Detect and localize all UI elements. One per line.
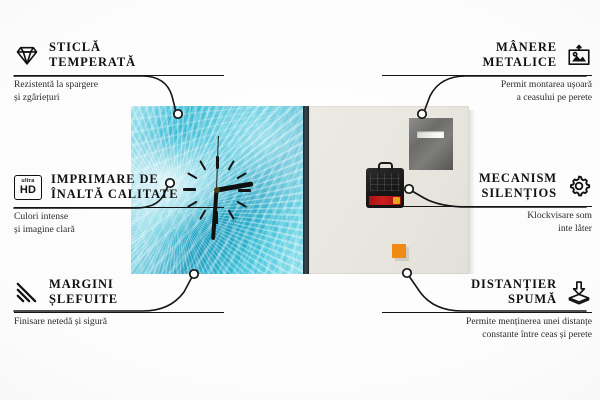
feature-title: MARGINI ȘLEFUITE (49, 277, 118, 308)
feature-tempered-glass: STICLĂ TEMPERATĂ Rezistentă la spargere … (14, 40, 224, 105)
feature-subtitle: Permit montarea ușoară a ceasului pe per… (382, 79, 592, 105)
feature-silent-mechanism: MECANISM SILENȚIOS Klockvisare som inte … (382, 171, 592, 236)
feature-title: MECANISM SILENȚIOS (479, 171, 557, 202)
beveled-edge-icon (14, 279, 40, 305)
feature-foam-spacer: DISTANȚIER SPUMĂ Permite menținerea unei… (382, 277, 592, 342)
mechanism-hook (378, 162, 393, 171)
feature-rule (382, 312, 592, 314)
picture-frame-hanger-icon (566, 42, 592, 68)
feature-title: MÂNERE METALICE (483, 40, 557, 71)
feature-rule (14, 75, 224, 77)
feature-subtitle: Klockvisare som inte låter (382, 210, 592, 236)
gear-icon (566, 173, 592, 199)
feature-rule (382, 206, 592, 208)
feature-title: IMPRIMARE DE ÎNALTĂ CALITATE (51, 172, 179, 203)
infographic-canvas: STICLĂ TEMPERATĂ Rezistentă la spargere … (0, 0, 600, 400)
feature-hd-print: ultra HD IMPRIMARE DE ÎNALTĂ CALITATE Cu… (14, 172, 224, 237)
feature-rule (14, 312, 224, 314)
feature-rule (382, 75, 592, 77)
feature-title: DISTANȚIER SPUMĂ (471, 277, 557, 308)
press-down-pad-icon (566, 279, 592, 305)
feature-title: STICLĂ TEMPERATĂ (49, 40, 136, 71)
feature-subtitle: Rezistentă la spargere și zgâriețuri (14, 79, 224, 105)
feature-metal-hangers: MÂNERE METALICE Permit montarea ușoară a… (382, 40, 592, 105)
metal-hanger-plate (409, 118, 453, 170)
feature-rule (14, 207, 224, 209)
feature-subtitle: Culori intense și imagine clară (14, 211, 224, 237)
feature-polished-edges: MARGINI ȘLEFUITE Finisare netedă și sigu… (14, 277, 224, 329)
feature-subtitle: Permite menținerea unei distanțe constan… (382, 316, 592, 342)
diamond-icon (14, 42, 40, 68)
ultra-hd-badge-icon: ultra HD (14, 175, 42, 200)
feature-subtitle: Finisare netedă și sigură (14, 316, 224, 329)
foam-spacer-pad (392, 244, 406, 258)
hanger-slot (417, 131, 444, 138)
